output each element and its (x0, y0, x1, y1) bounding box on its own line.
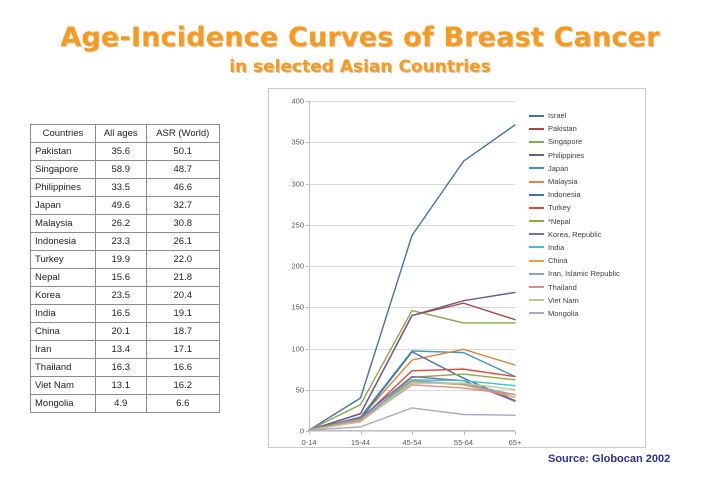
table-cell-country: Philippines (31, 179, 96, 197)
table-cell-country: Thailand (31, 359, 96, 377)
legend-item-label: Viet Nam (548, 296, 579, 305)
chart-legend: IsraelPakistanSingaporePhilippinesJapanM… (529, 109, 647, 320)
table-cell-value: 19.9 (95, 251, 146, 269)
page-subtitle: in selected Asian Countries (0, 57, 720, 77)
legend-item[interactable]: Mongolia (529, 307, 647, 320)
legend-item-label: China (548, 256, 568, 265)
chart-series-line (309, 292, 515, 430)
table-cell-value: 17.1 (146, 341, 219, 359)
table-body: Pakistan35.650.1Singapore58.948.7Philipp… (31, 143, 220, 413)
table-cell-country: Viet Nam (31, 377, 96, 395)
table-cell-value: 26.1 (146, 233, 219, 251)
legend-item[interactable]: Korea, Republic (529, 228, 647, 241)
legend-item[interactable]: Turkey (529, 201, 647, 214)
table-cell-value: 18.7 (146, 323, 219, 341)
legend-color-swatch (529, 128, 544, 130)
table-row: Iran13.417.1 (31, 341, 220, 359)
legend-color-swatch (529, 246, 544, 248)
legend-item[interactable]: Indonesia (529, 188, 647, 201)
table-cell-country: Korea (31, 287, 96, 305)
legend-item-label: Korea, Republic (548, 230, 601, 239)
x-axis-tick-label: 15-44 (351, 438, 370, 447)
y-axis-tick-label: 350 (291, 138, 304, 147)
legend-item[interactable]: Malaysia (529, 175, 647, 188)
table-cell-country: Japan (31, 197, 96, 215)
legend-item[interactable]: Iran, Islamic Republic (529, 267, 647, 280)
legend-color-swatch (529, 286, 544, 288)
chart-series-layer (309, 101, 515, 431)
table-row: China20.118.7 (31, 323, 220, 341)
table-cell-value: 49.6 (95, 197, 146, 215)
y-axis-tick-label: 0 (300, 427, 304, 436)
table-cell-country: Iran (31, 341, 96, 359)
slide-canvas: Age-Incidence Curves of Breast Cancer in… (0, 0, 720, 480)
table-row: Philippines33.546.6 (31, 179, 220, 197)
table-header: CountriesAll agesASR (World) (31, 125, 220, 143)
chart-plot-area: 0501001502002503003504000-1415-4445-5455… (309, 101, 515, 431)
table-cell-country: China (31, 323, 96, 341)
table-cell-value: 21.8 (146, 269, 219, 287)
table-row: Viet Nam13.116.2 (31, 377, 220, 395)
legend-item[interactable]: *Nepal (529, 215, 647, 228)
legend-color-swatch (529, 273, 544, 275)
legend-item-label: Malaysia (548, 177, 578, 186)
legend-item-label: *Nepal (548, 217, 571, 226)
table-column-header-0: Countries (31, 125, 96, 143)
title-block: Age-Incidence Curves of Breast Cancer in… (0, 22, 720, 77)
table-row: Malaysia26.230.8 (31, 215, 220, 233)
table-cell-value: 32.7 (146, 197, 219, 215)
table-row: Japan49.632.7 (31, 197, 220, 215)
table-column-header-1: All ages (95, 125, 146, 143)
table-header-row: CountriesAll agesASR (World) (31, 125, 220, 143)
table-cell-value: 4.9 (95, 395, 146, 413)
x-axis-tick-label: 55-64 (454, 438, 473, 447)
table-cell-value: 33.5 (95, 179, 146, 197)
table-cell-value: 16.6 (146, 359, 219, 377)
y-axis-tick-label: 50 (296, 385, 304, 394)
x-axis-tick-mark (412, 431, 413, 435)
legend-item-label: Israel (548, 111, 566, 120)
legend-item-label: Turkey (548, 203, 571, 212)
page-title: Age-Incidence Curves of Breast Cancer (0, 22, 720, 53)
table-cell-country: Indonesia (31, 233, 96, 251)
table-cell-value: 20.4 (146, 287, 219, 305)
table-row: Korea23.520.4 (31, 287, 220, 305)
table-cell-value: 16.5 (95, 305, 146, 323)
legend-color-swatch (529, 115, 544, 117)
table-cell-value: 23.5 (95, 287, 146, 305)
x-axis-tick-mark (309, 431, 310, 435)
legend-color-swatch (529, 312, 544, 314)
incidence-table: CountriesAll agesASR (World) Pakistan35.… (30, 124, 220, 413)
table-cell-value: 46.6 (146, 179, 219, 197)
table-cell-value: 58.9 (95, 161, 146, 179)
x-axis-tick-label: 0-14 (301, 438, 316, 447)
legend-item-label: Iran, Islamic Republic (548, 269, 620, 278)
table-row: Thailand16.316.6 (31, 359, 220, 377)
legend-color-swatch (529, 141, 544, 143)
legend-item[interactable]: Pakistan (529, 122, 647, 135)
legend-color-swatch (529, 207, 544, 209)
legend-item[interactable]: Israel (529, 109, 647, 122)
legend-item-label: Indonesia (548, 190, 581, 199)
x-axis-tick-mark (515, 431, 516, 435)
table-cell-value: 19.1 (146, 305, 219, 323)
table-cell-value: 13.4 (95, 341, 146, 359)
x-axis-tick-label: 45-54 (402, 438, 421, 447)
y-axis-tick-label: 400 (291, 97, 304, 106)
legend-item[interactable]: Singapore (529, 135, 647, 148)
legend-item-label: Japan (548, 164, 568, 173)
legend-item-label: Pakistan (548, 124, 577, 133)
table-row: India16.519.1 (31, 305, 220, 323)
table-cell-country: Mongolia (31, 395, 96, 413)
table-cell-value: 30.8 (146, 215, 219, 233)
table-cell-value: 13.1 (95, 377, 146, 395)
table-cell-country: Pakistan (31, 143, 96, 161)
table-cell-value: 50.1 (146, 143, 219, 161)
table-cell-value: 22.0 (146, 251, 219, 269)
legend-item[interactable]: Viet Nam (529, 294, 647, 307)
table-row: Nepal15.621.8 (31, 269, 220, 287)
table-cell-country: Turkey (31, 251, 96, 269)
x-axis-tick-mark (464, 431, 465, 435)
legend-color-swatch (529, 154, 544, 156)
table-cell-value: 16.2 (146, 377, 219, 395)
legend-color-swatch (529, 260, 544, 262)
x-axis-tick-mark (361, 431, 362, 435)
source-note: Source: Globocan 2002 (548, 453, 670, 465)
x-axis-tick-label: 65+ (509, 438, 522, 447)
legend-item-label: Thailand (548, 283, 577, 292)
table-cell-value: 26.2 (95, 215, 146, 233)
table-row: Turkey19.922.0 (31, 251, 220, 269)
legend-item-label: Singapore (548, 137, 582, 146)
table-row: Indonesia23.326.1 (31, 233, 220, 251)
table-cell-country: Nepal (31, 269, 96, 287)
table-row: Pakistan35.650.1 (31, 143, 220, 161)
legend-item-label: Philippines (548, 151, 584, 160)
legend-item[interactable]: Thailand (529, 280, 647, 293)
table-cell-country: Malaysia (31, 215, 96, 233)
table-cell-value: 20.1 (95, 323, 146, 341)
y-axis-tick-label: 300 (291, 179, 304, 188)
y-axis-tick-label: 250 (291, 220, 304, 229)
chart-container: 0501001502002503003504000-1415-4445-5455… (268, 88, 646, 448)
legend-item-label: India (548, 243, 564, 252)
legend-item[interactable]: Philippines (529, 149, 647, 162)
table-cell-value: 35.6 (95, 143, 146, 161)
table-cell-value: 23.3 (95, 233, 146, 251)
legend-color-swatch (529, 167, 544, 169)
legend-color-swatch (529, 181, 544, 183)
table-cell-value: 16.3 (95, 359, 146, 377)
table-cell-value: 48.7 (146, 161, 219, 179)
legend-color-swatch (529, 220, 544, 222)
legend-item[interactable]: Japan (529, 162, 647, 175)
table-cell-value: 6.6 (146, 395, 219, 413)
table-cell-country: Singapore (31, 161, 96, 179)
legend-color-swatch (529, 194, 544, 196)
table-cell-value: 15.6 (95, 269, 146, 287)
legend-item-label: Mongolia (548, 309, 578, 318)
legend-color-swatch (529, 299, 544, 301)
table-cell-country: India (31, 305, 96, 323)
table-row: Mongolia4.96.6 (31, 395, 220, 413)
y-axis-tick-label: 100 (291, 344, 304, 353)
table-column-header-2: ASR (World) (146, 125, 219, 143)
legend-item[interactable]: China (529, 254, 647, 267)
legend-color-swatch (529, 233, 544, 235)
y-axis-tick-label: 200 (291, 262, 304, 271)
y-axis-tick-label: 150 (291, 303, 304, 312)
table-row: Singapore58.948.7 (31, 161, 220, 179)
legend-item[interactable]: India (529, 241, 647, 254)
